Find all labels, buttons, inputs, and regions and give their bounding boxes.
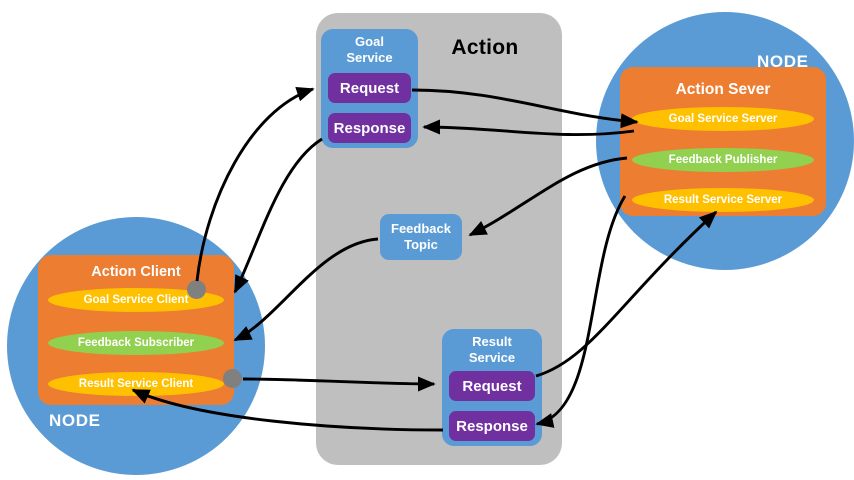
result-service-box: Result Service Request Response <box>442 329 542 446</box>
result-service-title-line1: Result <box>472 334 512 349</box>
action-client-box: Action Client Goal Service Client Feedba… <box>38 255 234 405</box>
result-service-title-line2: Service <box>469 350 515 365</box>
feedback-topic-title-line1: Feedback <box>391 221 451 236</box>
result-service-response-chip[interactable]: Response <box>449 411 535 441</box>
goal-service-response-chip[interactable]: Response <box>328 113 411 143</box>
diagram-canvas: Action NODE Action Client Goal Service C… <box>0 0 854 480</box>
connector-dot-goal-client <box>187 280 206 299</box>
feedback-topic-title: Feedback Topic <box>391 221 451 254</box>
action-client-title: Action Client <box>38 264 234 280</box>
result-service-title: Result Service <box>442 334 542 367</box>
pill-feedback-publisher[interactable]: Feedback Publisher <box>632 148 814 172</box>
action-server-box: Action Sever Goal Service Server Feedbac… <box>620 67 826 216</box>
pill-feedback-subscriber[interactable]: Feedback Subscriber <box>48 331 224 355</box>
result-service-request-chip[interactable]: Request <box>449 371 535 401</box>
feedback-topic-title-line2: Topic <box>404 237 438 252</box>
action-panel-title: Action <box>420 36 550 60</box>
goal-service-box: Goal Service Request Response <box>321 29 418 148</box>
pill-result-service-server[interactable]: Result Service Server <box>632 188 814 212</box>
pill-result-service-client[interactable]: Result Service Client <box>48 372 224 396</box>
goal-service-title-line1: Goal <box>355 34 384 49</box>
connector-dot-result-client <box>223 369 242 388</box>
node-client-label: NODE <box>49 411 101 431</box>
goal-service-title-line2: Service <box>346 50 392 65</box>
feedback-topic-box[interactable]: Feedback Topic <box>380 214 462 260</box>
action-server-title: Action Sever <box>620 81 826 99</box>
goal-service-request-chip[interactable]: Request <box>328 73 411 103</box>
pill-goal-service-server[interactable]: Goal Service Server <box>632 107 814 131</box>
arrow-goal-response-to-client <box>235 139 322 292</box>
goal-service-title: Goal Service <box>321 34 418 67</box>
